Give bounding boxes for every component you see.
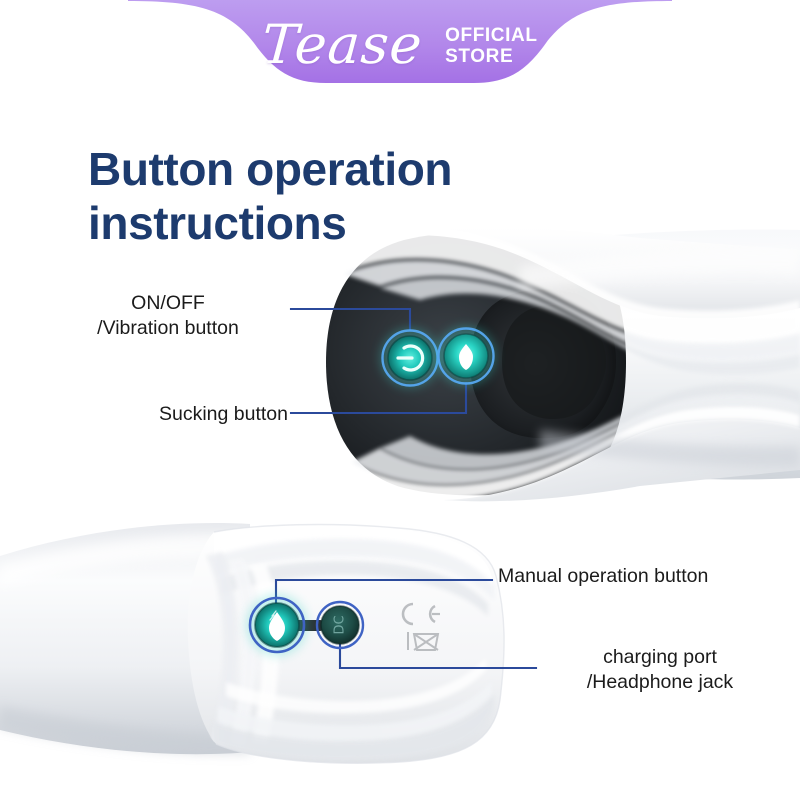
callout-sucking-line-1: Sucking button (48, 402, 288, 427)
callout-label-onoff: ON/OFF /Vibration button (48, 291, 288, 341)
callout-charging-line-2: /Headphone jack (540, 670, 780, 695)
callout-label-sucking: Sucking button (48, 402, 288, 427)
callout-charging-line-1: charging port (540, 645, 780, 670)
charging-port[interactable]: DC (317, 602, 363, 648)
callout-onoff-line-1: ON/OFF (48, 291, 288, 316)
power-button[interactable] (380, 328, 440, 388)
callout-label-manual: Manual operation button (498, 564, 708, 589)
suction-button[interactable] (436, 326, 496, 386)
product-instruction-page: Tease OFFICIAL STORE Button operation in… (0, 0, 800, 800)
dc-port-icon: DC (333, 615, 348, 634)
callout-onoff-line-2: /Vibration button (48, 316, 288, 341)
manual-operation-button[interactable] (246, 594, 308, 656)
callout-label-charging: charging port /Headphone jack (540, 645, 780, 695)
callout-manual-line-1: Manual operation button (498, 564, 708, 589)
